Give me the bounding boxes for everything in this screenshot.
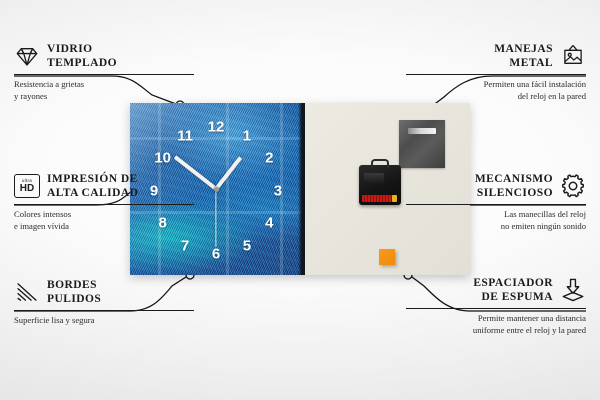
foam-spacer-arrow-icon: [560, 277, 586, 303]
clock-center-hub: [214, 187, 219, 192]
battery-terminal: [392, 195, 397, 202]
face-grid-line: [226, 103, 229, 275]
feature-title-line2: DE ESPUMA: [473, 290, 553, 304]
feature-subtitle-line1: Colores intensos: [14, 209, 194, 220]
feature-espaciador-espuma: ESPACIADOR DE ESPUMA Permite mantener un…: [406, 276, 586, 336]
clock-numeral-3: 3: [274, 183, 282, 198]
badge-hd-text: HD: [20, 184, 34, 194]
aa-battery: [362, 195, 392, 202]
polished-edges-icon: [14, 279, 40, 305]
gear-icon: [560, 173, 586, 199]
feature-divider: [406, 74, 586, 75]
feature-title-line1: VIDRIO: [47, 42, 117, 56]
feature-divider: [14, 204, 194, 205]
feature-divider: [14, 74, 194, 75]
mechanism-vent: [364, 173, 384, 183]
hanger-slot: [408, 128, 436, 134]
feature-subtitle-line2: y rayones: [14, 91, 194, 102]
feature-title-line1: MANEJAS: [494, 42, 553, 56]
feature-subtitle-line1: Permiten una fácil instalación: [406, 79, 586, 90]
feature-title-line1: BORDES: [47, 278, 101, 292]
feature-subtitle-line2: uniforme entre el reloj y la pared: [406, 325, 586, 336]
diamond-icon: [14, 43, 40, 69]
mechanism-hook-loop: [371, 159, 389, 168]
clock-numeral-11: 11: [177, 128, 193, 143]
clock-numeral-4: 4: [265, 216, 273, 231]
metal-hanger-plate: [399, 120, 445, 168]
feature-vidrio-templado: VIDRIO TEMPLADO Resistencia a grietas y …: [14, 42, 194, 102]
feature-title-line1: MECANISMO: [475, 172, 553, 186]
feature-subtitle-line2: e imagen vívida: [14, 221, 194, 232]
feature-title-line1: IMPRESIÓN DE: [47, 172, 138, 186]
feature-mecanismo-silencioso: MECANISMO SILENCIOSO Las manecillas del …: [406, 172, 586, 232]
feature-manejas-metal: MANEJAS METAL Permiten una fácil instala…: [406, 42, 586, 102]
feature-title-line2: SILENCIOSO: [475, 186, 553, 200]
infographic-canvas: 12 1 2 3 4 5 6 7 8 9 10 11: [0, 0, 600, 400]
feature-title-line1: ESPACIADOR: [473, 276, 553, 290]
clock-numeral-12: 12: [208, 120, 225, 135]
feature-title-line2: ALTA CALIDAD: [47, 186, 138, 200]
feature-divider: [406, 308, 586, 309]
feature-subtitle-line2: del reloj en la pared: [406, 91, 586, 102]
clock-numeral-10: 10: [154, 151, 171, 166]
clock-numeral-5: 5: [243, 238, 251, 253]
feature-subtitle-line1: Permite mantener una distancia: [406, 313, 586, 324]
hanging-frame-icon: [560, 43, 586, 69]
clock-second-hand: [215, 189, 216, 247]
foam-spacer-pad: [379, 249, 395, 265]
feature-title-line2: METAL: [494, 56, 553, 70]
clock-numeral-6: 6: [212, 247, 220, 262]
clock-numeral-7: 7: [181, 238, 189, 253]
feature-divider: [14, 310, 194, 311]
clock-numeral-1: 1: [243, 128, 251, 143]
feature-title-line2: PULIDOS: [47, 292, 101, 306]
feature-subtitle-line1: Resistencia a grietas: [14, 79, 194, 90]
feature-bordes-pulidos: BORDES PULIDOS Superficie lisa y segura: [14, 278, 194, 327]
feature-impresion-alta-calidad: ultra HD IMPRESIÓN DE ALTA CALIDAD Color…: [14, 172, 194, 232]
silent-quartz-mechanism: [359, 165, 401, 205]
feature-subtitle-line2: no emiten ningún sonido: [406, 221, 586, 232]
ultra-hd-badge-icon: ultra HD: [14, 174, 40, 198]
feature-subtitle-line1: Las manecillas del reloj: [406, 209, 586, 220]
feature-title-line2: TEMPLADO: [47, 56, 117, 70]
feature-divider: [406, 204, 586, 205]
feature-subtitle-line1: Superficie lisa y segura: [14, 315, 194, 326]
face-grid-line: [130, 137, 302, 140]
clock-numeral-2: 2: [265, 151, 273, 166]
